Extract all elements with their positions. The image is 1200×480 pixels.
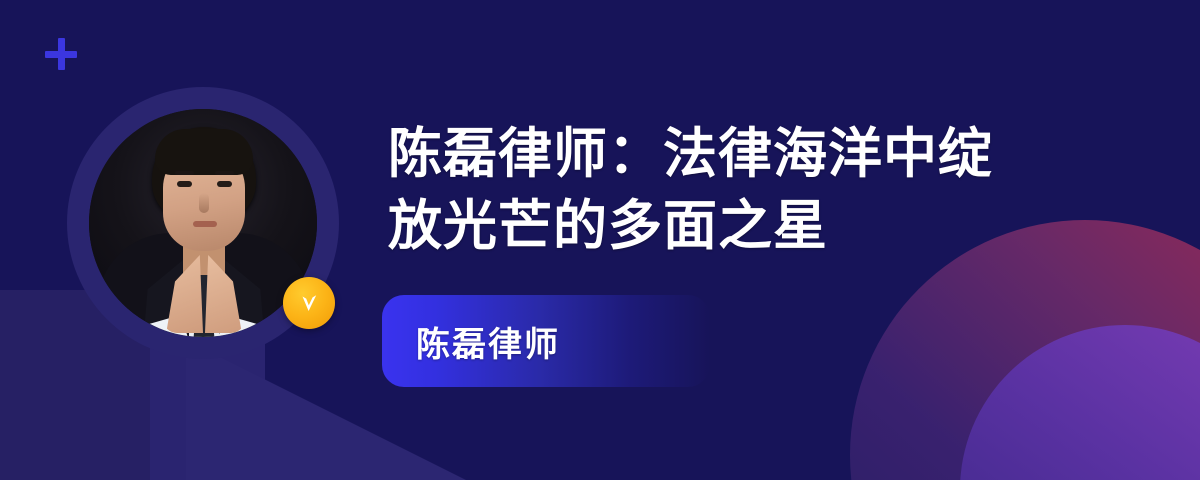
decorative-blob-purple — [960, 325, 1200, 480]
verified-badge-icon — [283, 277, 335, 329]
author-name-pill[interactable]: 陈磊律师 — [382, 295, 710, 387]
avatar[interactable] — [67, 87, 339, 359]
plus-icon — [45, 38, 77, 70]
author-name-label: 陈磊律师 — [416, 317, 560, 366]
headline-block: 陈磊律师：法律海洋中绽 放光芒的多面之星 — [388, 118, 1088, 263]
page-title: 陈磊律师：法律海洋中绽 放光芒的多面之星 — [388, 118, 1088, 263]
decorative-wedge-corner — [0, 360, 150, 480]
profile-banner: 陈磊律师：法律海洋中绽 放光芒的多面之星 陈磊律师 — [0, 0, 1200, 480]
plus-icon-bar-vertical — [58, 38, 65, 70]
